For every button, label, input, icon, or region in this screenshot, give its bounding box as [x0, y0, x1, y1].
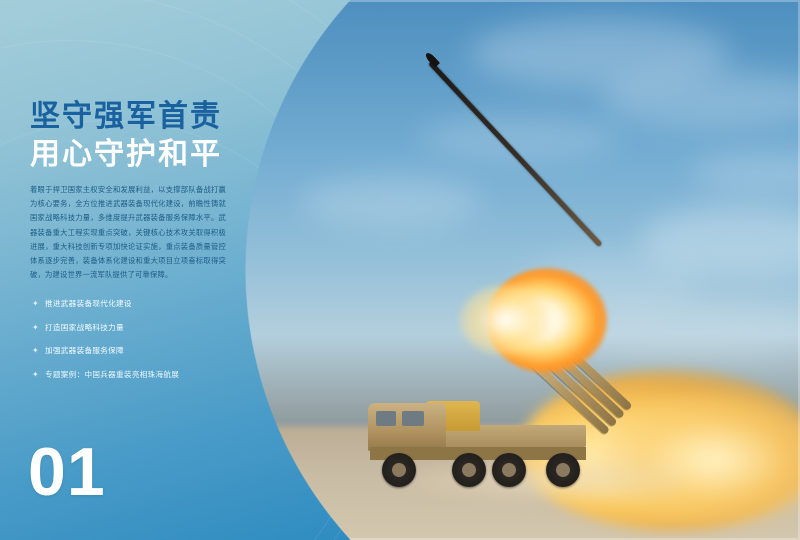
list-item-label: 加强武器装备服务保障 [45, 347, 124, 355]
list-item[interactable]: ✦ 推进武器装备现代化建设 [32, 300, 262, 308]
bullet-marker-icon: ✦ [32, 325, 37, 330]
content-column: 坚守强军首责 用心守护和平 着眼于捍卫国家主权安全和发展利益，以支撑部队备战打赢… [0, 0, 300, 540]
bullet-marker-icon: ✦ [32, 348, 37, 353]
list-item[interactable]: ✦ 打造国家战略科技力量 [32, 324, 262, 332]
bullet-marker-icon: ✦ [32, 372, 37, 377]
list-item-label: 专题案例：中国兵器重装亮相珠海航展 [45, 371, 179, 379]
section-number: 01 [28, 438, 106, 506]
list-item[interactable]: ✦ 加强武器装备服务保障 [32, 347, 262, 355]
bullet-marker-icon: ✦ [32, 301, 37, 306]
headline-line-2: 用心守护和平 [30, 136, 222, 174]
page-title: 坚守强军首责 用心守护和平 [30, 98, 222, 175]
bullet-list: ✦ 推进武器装备现代化建设 ✦ 打造国家战略科技力量 ✦ 加强武器装备服务保障 … [32, 300, 262, 394]
body-paragraph: 着眼于捍卫国家主权安全和发展利益，以支撑部队备战打赢为核心要务，全方位推进武器装… [30, 183, 226, 283]
headline-line-1: 坚守强军首责 [30, 98, 222, 136]
list-item-label: 打造国家战略科技力量 [45, 324, 124, 332]
slide-root: 坚守强军首责 用心守护和平 着眼于捍卫国家主权安全和发展利益，以支撑部队备战打赢… [0, 0, 800, 540]
list-item[interactable]: ✦ 专题案例：中国兵器重装亮相珠海航展 [32, 371, 262, 379]
list-item-label: 推进武器装备现代化建设 [45, 300, 132, 308]
